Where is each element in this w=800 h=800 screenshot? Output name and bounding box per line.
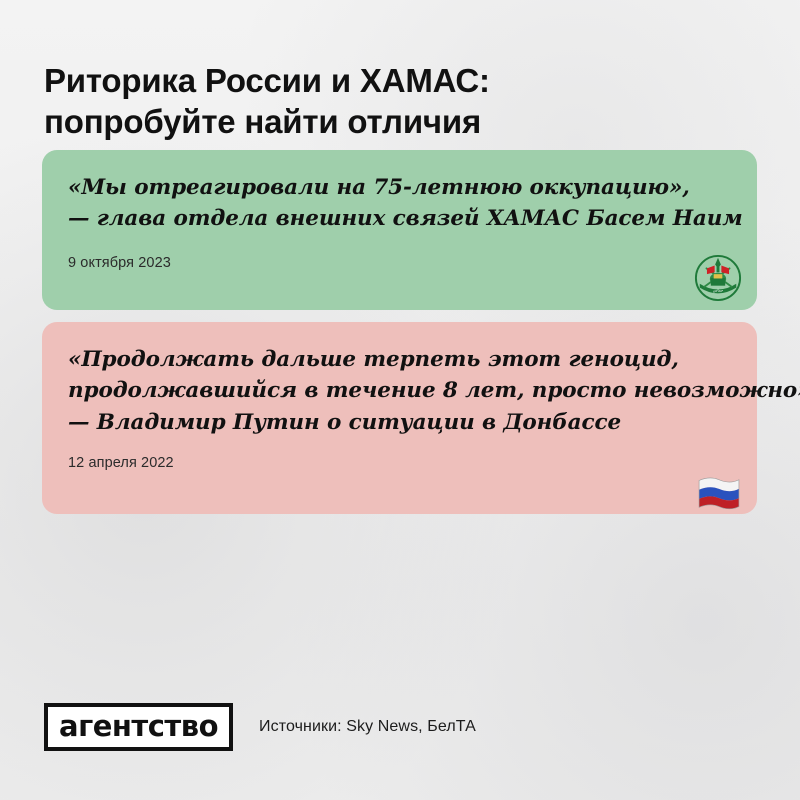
quote-line: продолжавшийся в течение 8 лет, просто н… <box>68 375 731 406</box>
quote-date-hamas: 9 октября 2023 <box>68 255 731 271</box>
quote-card-russia: «Продолжать дальше терпеть этот геноцид,… <box>42 322 757 514</box>
quote-date-russia: 12 апреля 2022 <box>68 455 731 471</box>
quote-card-hamas: «Мы отреагировали на 75-летнюю оккупацию… <box>42 150 757 310</box>
quote-line: «Продолжать дальше терпеть этот геноцид, <box>68 344 731 375</box>
page-title-line-1: Риторика России и ХАМАС: <box>44 60 684 101</box>
quote-line: — глава отдела внешних связей ХАМАС Басе… <box>68 203 731 234</box>
svg-text:ﺣﻤﺎﺱ: ﺣﻤﺎﺱ <box>713 287 724 292</box>
page-title: Риторика России и ХАМАС: попробуйте найт… <box>44 60 684 143</box>
quote-line: — Владимир Путин о ситуации в Донбассе <box>68 407 731 438</box>
hamas-emblem-icon: ﺣﻤﺎﺱ <box>694 254 742 302</box>
quote-text-hamas: «Мы отреагировали на 75-летнюю оккупацию… <box>68 172 731 235</box>
page-title-line-2: попробуйте найти отличия <box>44 101 684 142</box>
agentstvo-logo-text: агентство <box>59 712 218 741</box>
quote-line: «Мы отреагировали на 75-летнюю оккупацию… <box>68 172 731 203</box>
quote-text-russia: «Продолжать дальше терпеть этот геноцид,… <box>68 344 731 438</box>
footer: агентство Источники: Sky News, БелТА <box>44 703 476 751</box>
russia-flag-icon <box>696 474 742 510</box>
agentstvo-logo[interactable]: агентство <box>44 703 233 751</box>
poster: Риторика России и ХАМАС: попробуйте найт… <box>0 0 800 800</box>
sources-text: Источники: Sky News, БелТА <box>259 718 476 736</box>
